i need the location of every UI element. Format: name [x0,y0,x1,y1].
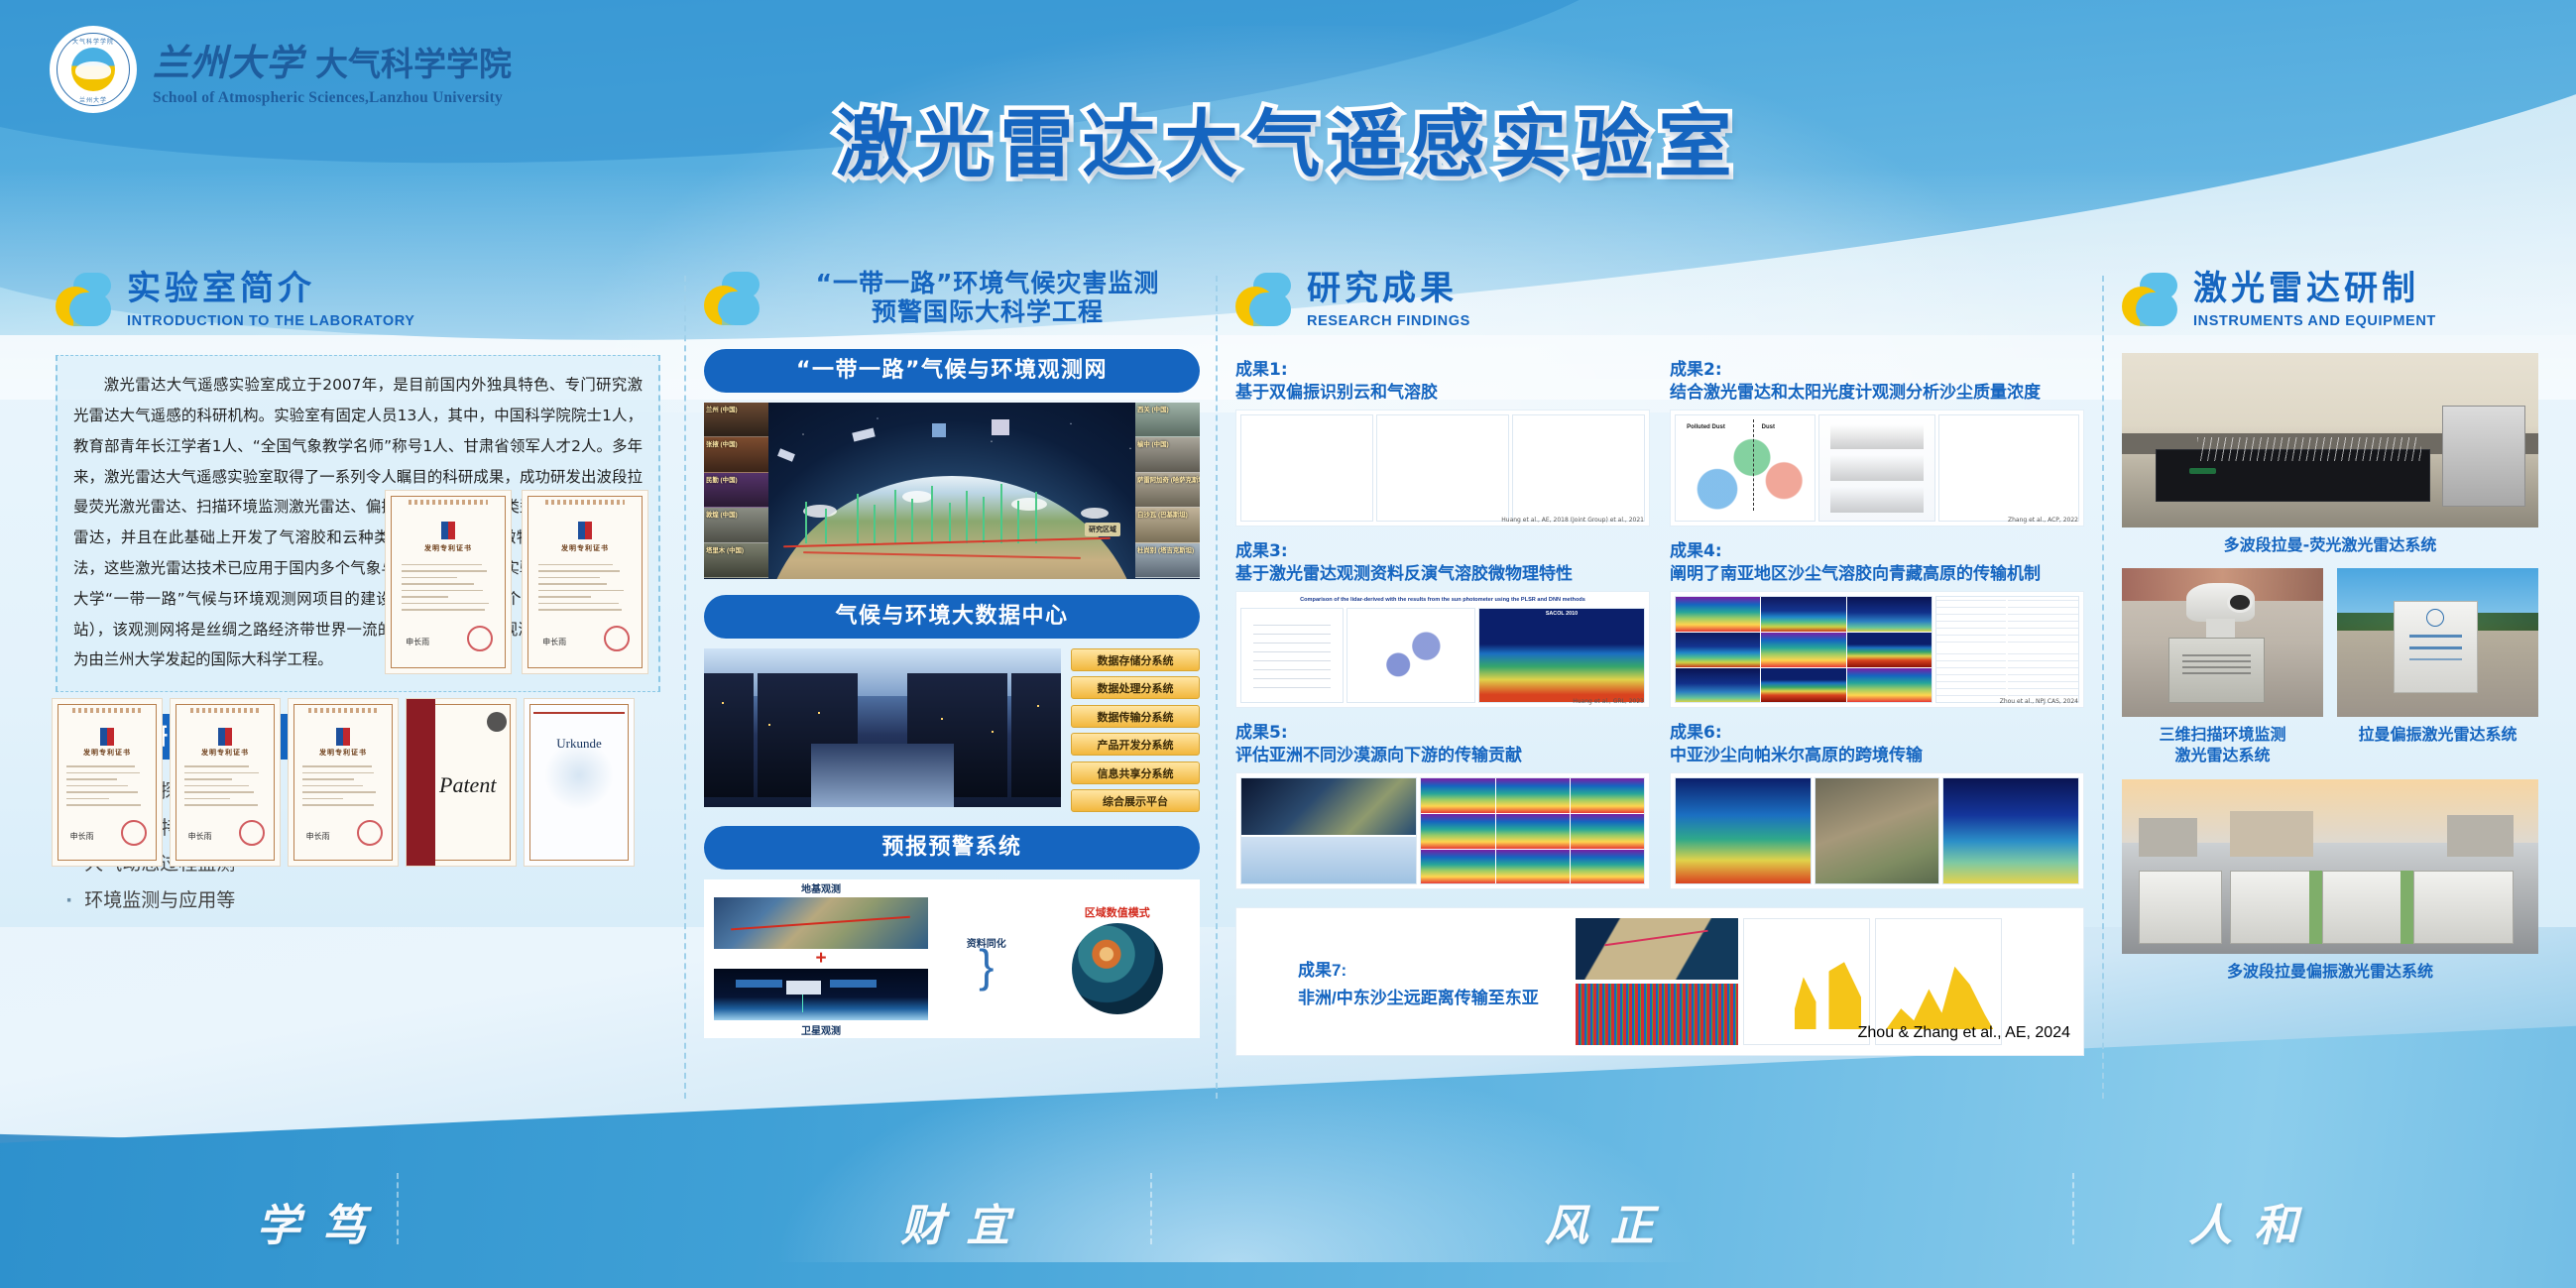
list-item: 数据传输分系统 [1071,705,1200,728]
finding-title: 基于双偏振识别云和气溶胶 [1235,382,1650,404]
section-title-en: INTRODUCTION TO THE LABORATORY [127,313,415,329]
finding-number: 成果6: [1670,718,2084,743]
aerosol-microphysics-retrieval-figure: Comparison of the lidar-derived with the… [1235,591,1650,708]
section-header-introduction: 实验室简介 INTRODUCTION TO THE LABORATORY [56,270,660,329]
finding-item: 成果5: 评估亚洲不同沙漠源向下游的传输贡献 [1235,718,1650,889]
station-label: 白沙瓦 (巴基斯坦) [1137,510,1188,519]
datacenter-server-room-photo [704,648,1061,807]
certificate-title: 发明专利证书 [386,543,511,553]
station-label: 西关 (中国) [1137,405,1169,413]
figure-label: Polluted Dust [1687,424,1725,430]
certificate-image: 发明专利证书 申长雨 [522,490,648,674]
satellite-photo [714,969,928,1020]
central-asia-pamir-transport-figure [1670,772,2084,889]
figure-credit: Zhou & Zhang et al., AE, 2024 [1858,1024,2070,1042]
list-item: 信息共享分系统 [1071,761,1200,784]
brand-school-name: 大气科学学院 [315,38,512,85]
decorative-dots-icon [704,272,760,325]
section-title-line2: 预警国际大科学工程 [775,298,1200,327]
left-station-thumbnails: 兰州 (中国) 张掖 (中国) 民勤 (中国) 敦煌 (中国) 塔里木 (中国) [704,403,768,579]
dust-mass-concentration-figure: Polluted Dust Dust Zhang et al., ACP, 20… [1670,410,2084,527]
figure-credit: Huang et al., GRL, 2023 [1573,698,1644,705]
finding-number: 成果4: [1670,536,2084,561]
brace-icon: } [934,950,1039,982]
column-instruments: 激光雷达研制 INSTRUMENTS AND EQUIPMENT 多波段拉曼-荧… [2122,270,2538,983]
certificate-signature: 申长雨 [306,831,330,842]
forecast-warning-system-figure: 地基观测 + 卫星观测 资料同化 } 区域数值模式 [704,879,1200,1038]
certificate-title: 发明专利证书 [289,748,398,758]
certificate-title: 发明专利证书 [171,748,280,758]
station-label: 榆中 (中国) [1137,439,1169,448]
finding-number: 成果5: [1235,718,1650,743]
findings-grid: 成果1: 基于双偏振识别云和气溶胶 Huang et al., AE, 2018… [1235,355,2084,1056]
section-title-cn: 激光雷达研制 [2193,270,2436,308]
multi-wavelength-raman-fluorescence-lidar-photo [2122,353,2538,527]
belt-and-road-observation-network-figure: 研究区域 兰州 (中国) 张掖 (中国) 民勤 (中国) 敦煌 (中国) 塔里木… [704,403,1200,579]
section-title-cn: 研究成果 [1307,270,1470,308]
poster-root: 大气科学学院 兰州大学 兰州大学 大气科学学院 School of Atmosp… [0,0,2576,1288]
decorative-dots-icon [56,273,111,326]
ground-observation-label: 地基观测 [801,880,841,895]
section-header-belt-and-road: “一带一路”环境气候灾害监测 预警国际大科学工程 [704,270,1200,327]
right-station-thumbnails: 西关 (中国) 榆中 (中国) 萨雷阿加奇 (哈萨克斯坦) 白沙瓦 (巴基斯坦)… [1135,403,1200,579]
decorative-dots-icon [1235,273,1291,326]
finding-number: 成果3: [1235,536,1650,561]
instrument-caption: 拉曼偏振激光雷达系统 [2337,725,2538,746]
section-title-en: RESEARCH FINDINGS [1307,313,1470,329]
observation-network-bar: “一带一路”气候与环境观测网 [704,349,1200,393]
figure-subtitle: SACOL 2010 [1479,611,1644,617]
column-research-findings: 研究成果 RESEARCH FINDINGS 成果1: 基于双偏振识别云和气溶胶… [1235,270,2084,1056]
station-label: 兰州 (中国) [706,405,738,413]
certificate-image: 发明专利证书 申长雨 [170,698,281,867]
section-title-en: INSTRUMENTS AND EQUIPMENT [2193,313,2436,329]
column-divider-2 [1216,276,1218,1099]
finding-number: 成果2: [1670,355,2084,380]
dual-polarization-cloud-aerosol-figure: Huang et al., AE, 2018 (Joint Group) et … [1235,410,1650,527]
certificate-image-de-patent: Urkunde [524,698,635,867]
list-item: 数据存储分系统 [1071,648,1200,671]
regional-model-globe-figure [1072,923,1163,1014]
datacenter-subsystem-list: 数据存储分系统 数据处理分系统 数据传输分系统 产品开发分系统 信息共享分系统 … [1071,648,1200,813]
list-item: 产品开发分系统 [1071,733,1200,756]
instrument-pair: 三维扫描环境监测 激光雷达系统 拉曼偏振激光雷达系统 [2122,568,2538,766]
certificate-image: 发明专利证书 申长雨 [385,490,512,674]
finding-number: 成果7: [1298,956,1556,981]
asian-desert-source-contribution-figure [1235,772,1650,889]
datacenter-block: 数据存储分系统 数据处理分系统 数据传输分系统 产品开发分系统 信息共享分系统 … [704,648,1200,813]
certificate-image: 发明专利证书 申长雨 [52,698,163,867]
satellite-observation-label: 卫星观测 [801,1022,841,1037]
column-divider-3 [2102,276,2104,1099]
certificate-title: 发明专利证书 [53,748,162,758]
model-label: 区域数值模式 [1045,904,1190,920]
certificate-image: 发明专利证书 申长雨 [288,698,399,867]
station-label: 民勤 (中国) [706,475,738,484]
figure-credit: Huang et al., AE, 2018 (Joint Group) et … [1501,517,1644,524]
certificate-signature: 申长雨 [542,637,566,647]
finding-title: 基于激光雷达观测资料反演气溶胶微物理特性 [1235,563,1650,585]
belt-and-road-route-map [714,897,928,949]
datacenter-bar: 气候与环境大数据中心 [704,595,1200,639]
section-title-cn: 实验室简介 [127,270,415,308]
figure-header: Comparison of the lidar-derived with the… [1240,596,1645,605]
finding-title: 阐明了南亚地区沙尘气溶胶向青藏高原的传输机制 [1670,563,2084,585]
column-belt-and-road: “一带一路”环境气候灾害监测 预警国际大科学工程 “一带一路”气候与环境观测网 [704,270,1200,1038]
motto-word: 风正 [1288,1190,1932,1253]
section-header-research-findings: 研究成果 RESEARCH FINDINGS [1235,270,2084,329]
multi-wavelength-raman-polarization-lidar-site-photo [2122,779,2538,954]
list-item: 环境监测与应用等 [65,882,660,918]
finding-item: 成果2: 结合激光雷达和太阳光度计观测分析沙尘质量浓度 Polluted Dus… [1670,355,2084,527]
brand-university-name: 兰州大学 [153,33,303,86]
figure-credit: Zhang et al., ACP, 2022 [2008,517,2078,524]
page-title: 激光雷达大气遥感实验室 [0,85,2576,191]
figure-label: Dust [1762,424,1775,430]
finding-title: 评估亚洲不同沙漠源向下游的传输贡献 [1235,745,1650,766]
section-header-instruments: 激光雷达研制 INSTRUMENTS AND EQUIPMENT [2122,270,2538,329]
motto-word: 学笃 [0,1190,644,1253]
finding-item-wide: 成果7: 非洲/中东沙尘远距离传输至东亚 [1235,907,2084,1056]
motto-word: 财宜 [644,1190,1289,1253]
column-introduction: 实验室简介 INTRODUCTION TO THE LABORATORY 激光雷… [56,270,660,918]
station-label: 张掖 (中国) [706,439,738,448]
certificate-image-us-patent: Patent [406,698,517,867]
instrument-caption: 多波段拉曼-荧光激光雷达系统 [2122,535,2538,556]
certificate-title: Patent [439,772,509,798]
finding-number: 成果1: [1235,355,1650,380]
raman-polarization-lidar-photo [2337,568,2538,717]
station-label: 杜尚别 (塔吉克斯坦) [1137,545,1194,554]
certificate-title: 发明专利证书 [523,543,647,553]
section-title-line1: “一带一路”环境气候灾害监测 [775,270,1200,298]
plus-icon: + [815,951,826,966]
finding-title: 结合激光雷达和太阳光度计观测分析沙尘质量浓度 [1670,382,2084,404]
finding-title: 中亚沙尘向帕米尔高原的跨境传输 [1670,745,2084,766]
finding-item: 成果1: 基于双偏振识别云和气溶胶 Huang et al., AE, 2018… [1235,355,1650,527]
motto-word: 人和 [1932,1190,2576,1253]
region-tag: 研究区域 [1085,523,1120,536]
south-asia-dust-transport-figure: Zhou et al., NPJ CAS, 2024 [1670,591,2084,708]
certificate-row-bottom: 发明专利证书 申长雨 发明专利证书 申长雨 发明专利证书 申长雨 [52,698,635,867]
finding-title: 非洲/中东沙尘远距离传输至东亚 [1298,984,1556,1008]
instrument-caption: 多波段拉曼偏振激光雷达系统 [2122,962,2538,983]
footer-motto: 学笃 财宜 风正 人和 [0,1177,2576,1266]
content-columns: 实验室简介 INTRODUCTION TO THE LABORATORY 激光雷… [0,270,2576,1162]
station-label: 塔里木 (中国) [706,545,744,554]
station-label: 萨雷阿加奇 (哈萨克斯坦) [1137,475,1200,484]
forecast-system-bar: 预报预警系统 [704,826,1200,870]
certificate-row-top: 发明专利证书 申长雨 发明专利证书 申长雨 [385,490,648,674]
finding-item: 成果6: 中亚沙尘向帕米尔高原的跨境传输 [1670,718,2084,889]
africa-middle-east-dust-transport-figure: Zhou & Zhang et al., AE, 2024 [1576,918,2002,1045]
finding-item: 成果3: 基于激光雷达观测资料反演气溶胶微物理特性 Comparison of … [1235,536,1650,708]
decorative-dots-icon [2122,273,2177,326]
certificate-signature: 申长雨 [188,831,212,842]
list-item: 数据处理分系统 [1071,676,1200,699]
instrument-caption: 三维扫描环境监测 激光雷达系统 [2122,725,2323,766]
station-label: 敦煌 (中国) [706,510,738,519]
finding-item: 成果4: 阐明了南亚地区沙尘气溶胶向青藏高原的传输机制 [1670,536,2084,708]
list-item: 综合展示平台 [1071,789,1200,812]
certificate-signature: 申长雨 [70,831,94,842]
certificate-signature: 申长雨 [406,637,429,647]
three-dimensional-scanning-lidar-photo [2122,568,2323,717]
figure-credit: Zhou et al., NPJ CAS, 2024 [2000,698,2078,705]
column-divider-1 [684,276,686,1099]
certificate-title: Urkunde [525,736,634,752]
